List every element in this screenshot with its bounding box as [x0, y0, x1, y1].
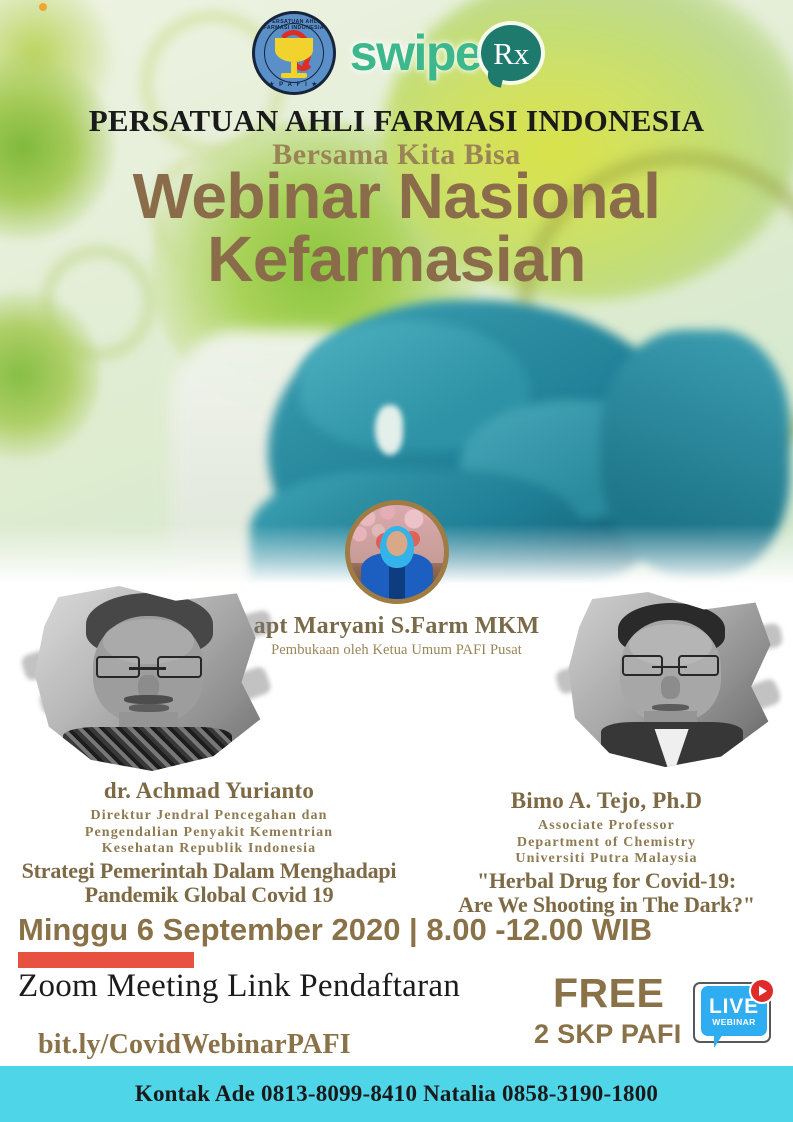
swiperx-logo: swipe Rx	[350, 25, 541, 81]
speaker-name-right: Bimo A. Tejo, Ph.D	[420, 788, 793, 814]
speaker-affiliation-left: Direktur Jendral Pencegahan dan Pengenda…	[0, 808, 418, 858]
red-accent-bar	[18, 952, 194, 968]
title-line-2: Kefarmasian	[0, 228, 793, 291]
photo-mustache	[124, 695, 173, 704]
affiliation-line: Department of Chemistry	[420, 835, 793, 852]
contact-text: Kontak Ade 0813-8099-8410 Natalia 0858-3…	[135, 1081, 658, 1107]
rx-label: Rx	[493, 38, 529, 69]
webinar-poster: PERSATUAN AHLI FARMASI INDONESIA ★ P A F…	[0, 0, 793, 1122]
play-triangle-icon	[759, 986, 767, 996]
contact-footer: Kontak Ade 0813-8099-8410 Natalia 0858-3…	[0, 1066, 793, 1122]
pafi-logo-icon: PERSATUAN AHLI FARMASI INDONESIA ★ P A F…	[252, 11, 336, 95]
registration-label: Zoom Meeting Link Pendaftaran	[18, 968, 460, 1005]
photo-mouth	[129, 704, 169, 711]
photo-nose	[661, 676, 680, 699]
swipe-wordmark: swipe	[350, 28, 481, 78]
title-line-1: Webinar Nasional	[133, 160, 661, 232]
credits-label: 2 SKP PAFI	[534, 1019, 682, 1050]
avatar-face	[386, 531, 407, 556]
speaker-block-right: Bimo A. Tejo, Ph.D Associate Professor D…	[420, 788, 793, 917]
photo-brush-mask	[30, 586, 265, 771]
page-title: Webinar Nasional Kefarmasian	[0, 165, 793, 292]
price-label: FREE	[553, 970, 664, 1017]
affiliation-line: Universiti Putra Malaysia	[420, 851, 793, 868]
registration-link[interactable]: bit.ly/CovidWebinarPAFI	[38, 1029, 351, 1061]
rx-speech-bubble-icon: Rx	[481, 25, 541, 81]
decor-tube-glint	[375, 405, 403, 455]
pafi-logo-bottom-text: ★ P A F I ★	[255, 81, 333, 88]
speaker-photo-left	[30, 586, 265, 771]
badge-webinar-label: WEBINAR	[712, 1018, 755, 1027]
play-button-icon	[749, 978, 775, 1004]
speaker-block-left: dr. Achmad Yurianto Direktur Jendral Pen…	[0, 778, 418, 907]
center-speaker-avatar	[345, 500, 449, 604]
topic-line: Strategi Pemerintah Dalam Menghadapi	[0, 859, 418, 883]
photo-brush-mask	[562, 592, 777, 767]
speaker-affiliation-right: Associate Professor Department of Chemis…	[420, 818, 793, 868]
photo-glasses-bridge	[652, 666, 686, 668]
swipe-dot-icon	[39, 3, 47, 11]
organization-name: PERSATUAN AHLI FARMASI INDONESIA	[0, 103, 793, 139]
event-datetime: Minggu 6 September 2020 | 8.00 -12.00 WI…	[18, 912, 652, 948]
topic-line: "Herbal Drug for Covid-19:	[420, 869, 793, 893]
speaker-topic-left: Strategi Pemerintah Dalam Menghadapi Pan…	[0, 859, 418, 907]
logo-row: PERSATUAN AHLI FARMASI INDONESIA ★ P A F…	[0, 6, 793, 100]
topic-line: Pandemik Global Covid 19	[0, 883, 418, 907]
affiliation-line: Associate Professor	[420, 818, 793, 835]
bimo-tejo-photo	[562, 592, 777, 767]
affiliation-line: Kesehatan Republik Indonesia	[0, 841, 418, 858]
speaker-topic-right: "Herbal Drug for Covid-19: Are We Shooti…	[420, 869, 793, 917]
live-webinar-badge: LIVE WEBINAR	[693, 978, 777, 1054]
pafi-bowl-base	[281, 73, 307, 78]
photo-glasses-bridge	[129, 667, 167, 669]
pafi-bowl-icon	[275, 38, 313, 62]
achmad-yurianto-photo	[30, 586, 265, 771]
affiliation-line: Direktur Jendral Pencegahan dan	[0, 808, 418, 825]
affiliation-line: Pengendalian Penyakit Kementrian	[0, 825, 418, 842]
photo-batik-shirt	[63, 727, 232, 771]
speaker-name-left: dr. Achmad Yurianto	[0, 778, 418, 804]
speaker-photo-right	[562, 592, 777, 767]
photo-mouth	[652, 704, 689, 711]
